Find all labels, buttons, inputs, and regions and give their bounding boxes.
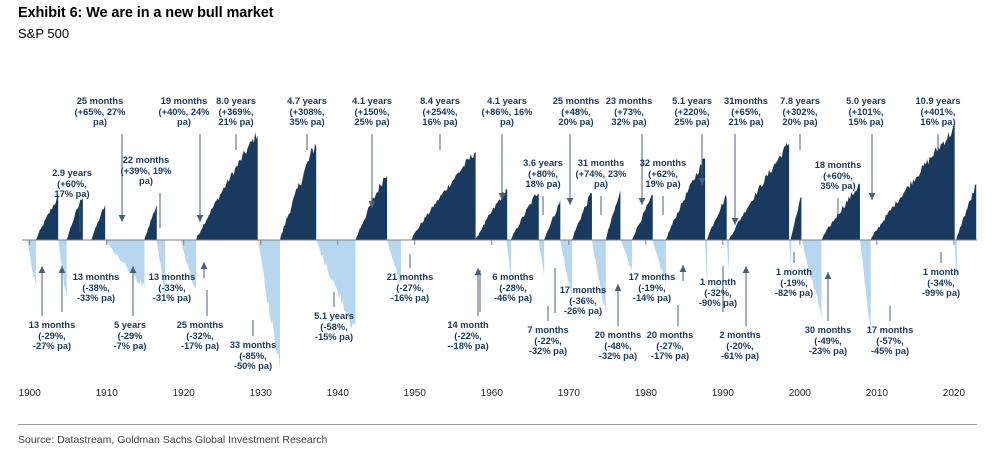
bear-annotation-duration: 5.1 years [314,311,354,322]
bull-annotation-duration: 4.1 years [482,96,533,107]
bull-annotation-returns: (+48%, 20% pa) [553,107,600,128]
bull-annotation: 3.6 years(+80%, 18% pa) [523,158,563,190]
bull-annotation-returns: (+302%, 20% pa) [780,107,820,128]
bear-annotation-duration: 1 month [699,277,737,288]
bull-annotation-returns: (+369%, 21% pa) [216,107,256,128]
bear-annotation-duration: 7 months [527,325,568,336]
bull-annotation: 25 months(+65%, 27% pa) [75,96,126,128]
bull-annotation-duration: 5.1 years [672,96,712,107]
bull-annotation: 31 months(+74%, 23% pa) [576,158,627,190]
bear-annotation: 2 months(-20%, -61% pa) [719,330,760,362]
bear-annotation-duration: 20 months [595,330,642,341]
bull-annotation: 7.8 years(+302%, 20% pa) [780,96,820,128]
bear-annotation: 5 years(-29% -7% pa) [113,320,146,352]
bear-market-area [727,240,729,273]
x-axis-tick-label: 2000 [789,388,811,399]
arrow-head-icon [680,265,687,272]
bull-annotation: 8.4 years(+254%, 16% pa) [420,96,460,128]
bull-annotation-duration: 31 months [576,158,627,169]
bull-annotation-returns: (+39%, 19% pa) [121,166,172,187]
x-axis-tick-label: 2010 [866,388,888,399]
bull-annotation: 31months(+65%, 21% pa) [724,96,768,128]
bear-annotation-duration: 33 months [230,340,277,351]
bull-annotation: 23 months(+73%, 32% pa) [606,96,653,128]
annotation-leader-line [59,266,66,312]
bull-annotation: 5.1 years(+220%, 25% pa) [672,96,712,128]
bear-annotation-returns: (-33%, -31% pa) [149,283,196,304]
bear-annotation: 25 months(-32%, -17% pa) [177,320,224,352]
arrow-head-icon [615,284,622,291]
bear-annotation-returns: (-20%, -61% pa) [719,341,760,362]
bull-annotation-returns: (+220%, 25% pa) [672,107,712,128]
bear-annotation: 21 months(-27%, -16% pa) [387,272,434,304]
bear-annotation: 20 months(-48%, -32% pa) [595,330,642,362]
bear-annotation-duration: 1 month [922,267,960,278]
bull-annotation: 5.0 years(+101%, 15% pa) [846,96,886,128]
bull-annotation-duration: 18 months [815,160,862,171]
bull-market-area [355,176,387,240]
bear-annotation-duration: 5 years [113,320,146,331]
x-axis-tick-label: 1940 [327,388,349,399]
bear-annotation-duration: 14 month [447,320,488,331]
bear-annotation-returns: (-49%, -23% pa) [805,336,852,357]
bull-annotation-duration: 19 months [159,96,210,107]
bull-annotation-returns: (+150%, 25% pa) [352,107,392,128]
bear-annotation-duration: 17 months [629,272,676,283]
bull-market-area [729,143,789,240]
bull-annotation: 10.9 years(+401%, 16% pa) [916,96,961,128]
bull-annotation-returns: (+60%, 35% pa) [815,171,862,192]
bull-annotation-duration: 10.9 years [916,96,961,107]
bear-annotation-returns: (-19%, -14% pa) [629,283,676,304]
x-axis-tick-label: 1930 [250,388,272,399]
arrow-head-icon [825,272,832,279]
bull-annotation: 4.1 years(+150%, 25% pa) [352,96,392,128]
bear-annotation: 1 month(-34%, -99% pa) [922,267,960,299]
footer-divider [18,424,977,425]
bull-market-area [280,144,316,240]
bull-annotation: 19 months(+40%, 24% pa) [159,96,210,128]
bear-annotation: 14 month(-22%, --18% pa) [447,320,488,352]
bull-annotation-returns: (+40%, 24% pa) [159,107,210,128]
bull-market-area [196,132,258,240]
bear-annotation: 13 months(-33%, -31% pa) [149,272,196,304]
annotation-leader-line [825,272,832,321]
bull-annotation-returns: (+65%, 27% pa) [75,107,126,128]
bear-annotation-duration: 13 months [29,320,76,331]
bear-annotation-duration: 25 months [177,320,224,331]
bull-market-area [572,192,592,240]
bull-annotation-duration: 25 months [553,96,600,107]
x-axis-tick-label: 1920 [173,388,195,399]
bull-market-area [511,193,539,240]
annotation-leader-line [201,262,208,278]
arrow-head-icon [201,262,208,269]
annotation-leader-line [743,266,750,326]
bear-annotation-returns: (-58%, -15% pa) [314,322,354,343]
bull-annotation-duration: 3.6 years [523,158,563,169]
bear-annotation: 1 month(-32%, -90% pa) [699,277,737,309]
bull-annotation-duration: 23 months [606,96,653,107]
bull-annotation: 8.0 years(+369%, 21% pa) [216,96,256,128]
bear-annotation-duration: 13 months [149,272,196,283]
bull-annotation: 32 months(+62%, 19% pa) [640,158,687,190]
bull-annotation: 4.1 years(+86%, 16% pa) [482,96,533,128]
annotation-leader-line [732,134,739,225]
arrow-head-icon [639,198,646,205]
bear-annotation: 5.1 years(-58%, -15% pa) [314,311,354,343]
bear-annotation-returns: (-57%, -45% pa) [867,336,914,357]
bear-annotation-returns: (-29% -7% pa) [113,331,146,352]
bear-annotation-returns: (-28%, -46% pa) [492,283,533,304]
bull-annotation: 18 months(+60%, 35% pa) [815,160,862,192]
bull-market-area [544,200,560,240]
annotation-leader-line [615,284,622,326]
bull-annotation-duration: 4.7 years [287,96,327,107]
arrow-head-icon [39,266,46,273]
bull-annotation: 25 months(+48%, 20% pa) [553,96,600,128]
bull-market-area [606,191,621,240]
bear-annotation: 13 months(-29%, -27% pa) [29,320,76,352]
bear-annotation-returns: (-22%, --18% pa) [447,331,488,352]
page-subtitle: S&P 500 [18,26,69,41]
bear-annotation-returns: (-27%, -16% pa) [387,283,434,304]
bear-annotation-returns: (-36%, -26% pa) [560,296,607,317]
bull-market-area [791,197,802,240]
bull-annotation-returns: (+86%, 16% pa) [482,107,533,128]
bull-annotation-returns: (+73%, 32% pa) [606,107,653,128]
bear-annotation: 20 months(-27%, -17% pa) [647,330,694,362]
bear-market-area [860,240,871,332]
bear-annotation: 6 months(-28%, -46% pa) [492,272,533,304]
bull-annotation-returns: (+74%, 23% pa) [576,169,627,190]
bear-annotation-returns: (-34%, -99% pa) [922,278,960,299]
bear-annotation: 1 month(-19%, -82% pa) [775,267,813,299]
bull-market-area [144,205,156,240]
arrow-head-icon [869,193,876,200]
bear-annotation: 7 months(-22%, -32% pa) [527,325,568,357]
bull-annotation-duration: 25 months [75,96,126,107]
annotation-leader-line [39,266,46,316]
x-axis-tick-label: 2020 [943,388,965,399]
bull-annotation-returns: (+62%, 19% pa) [640,169,687,190]
x-axis-tick-label: 1980 [635,388,657,399]
arrow-head-icon [197,215,204,222]
bull-market-area [956,184,976,240]
annotation-leader-line [567,134,574,205]
arrow-head-icon [119,215,126,222]
bear-annotation-duration: 2 months [719,330,760,341]
bull-annotation-duration: 8.4 years [420,96,460,107]
page-title: Exhibit 6: We are in a new bull market [18,5,273,21]
bear-annotation-duration: 30 months [805,325,852,336]
bear-annotation: 30 months(-49%, -23% pa) [805,325,852,357]
bear-annotation-duration: 17 months [867,325,914,336]
arrow-head-icon [743,266,750,273]
bull-market-area [411,152,476,240]
annotation-leader-line [869,134,876,200]
source-note: Source: Datastream, Goldman Sachs Global… [18,434,327,446]
bear-market-area [539,240,544,276]
bull-annotation-duration: 4.1 years [352,96,392,107]
x-axis-tick-label: 1970 [558,388,580,399]
bull-annotation-duration: 8.0 years [216,96,256,107]
bear-annotation-returns: (-85%, -50% pa) [230,351,277,372]
annotation-leader-line [369,134,376,208]
bear-annotation-returns: (-32%, -90% pa) [699,288,737,309]
x-axis-tick-label: 1960 [481,388,503,399]
bull-annotation-duration: 2.9 years [52,168,92,179]
bear-annotation-returns: (-29%, -27% pa) [29,331,76,352]
bear-market-area [27,240,35,284]
bear-annotation-duration: 21 months [387,272,434,283]
bull-market-area [36,194,58,240]
bear-annotation: 17 months(-57%, -45% pa) [867,325,914,357]
bear-annotation-duration: 1 month [775,267,813,278]
bear-annotation: 17 months(-19%, -14% pa) [629,272,676,304]
exhibit-page: Exhibit 6: We are in a new bull market S… [0,0,995,465]
annotation-leader-line [499,134,506,200]
bear-annotation-returns: (-32%, -17% pa) [177,331,224,352]
bull-annotation-returns: (+80%, 18% pa) [523,169,563,190]
bear-annotation-returns: (-38%, -33% pa) [73,283,120,304]
bear-annotation-returns: (-48%, -32% pa) [595,341,642,362]
x-axis-tick-label: 1990 [712,388,734,399]
bull-market-area [821,184,860,240]
annotation-leader-line [680,265,687,281]
bear-market-area [621,240,632,272]
x-axis-tick-label: 1910 [96,388,118,399]
bull-annotation-returns: (+65%, 21% pa) [724,107,768,128]
bull-annotation-duration: 7.8 years [780,96,820,107]
bear-annotation-duration: 13 months [73,272,120,283]
bull-annotation-returns: (+60%, 17% pa) [52,179,92,200]
bear-annotation-returns: (-19%, -82% pa) [775,278,813,299]
bear-annotation-returns: (-27%, -17% pa) [647,341,694,362]
annotation-leader-line [197,134,204,222]
bull-annotation-returns: (+101%, 15% pa) [846,107,886,128]
bull-annotation: 4.7 years(+308%, 35% pa) [287,96,327,128]
bear-annotation-returns: (-22%, -32% pa) [527,336,568,357]
bull-annotation-duration: 22 months [121,155,172,166]
bear-annotation: 17 months(-36%, -26% pa) [560,285,607,317]
x-axis-tick-label: 1900 [19,388,41,399]
arrow-head-icon [567,198,574,205]
bear-annotation-duration: 17 months [560,285,607,296]
bear-annotation-duration: 20 months [647,330,694,341]
bull-annotation-returns: (+308%, 35% pa) [287,107,327,128]
bull-annotation: 2.9 years(+60%, 17% pa) [52,168,92,200]
bull-annotation-duration: 32 months [640,158,687,169]
bull-market-area [871,124,955,240]
bear-annotation: 13 months(-38%, -33% pa) [73,272,120,304]
bull-market-area [91,205,105,240]
bull-market-area [707,195,727,240]
bull-annotation-duration: 31months [724,96,768,107]
bull-annotation-returns: (+401%, 16% pa) [916,107,961,128]
bear-annotation: 33 months(-85%, -50% pa) [230,340,277,372]
bear-annotation-duration: 6 months [492,272,533,283]
bull-annotation: 22 months(+39%, 19% pa) [121,155,172,187]
bull-annotation-returns: (+254%, 16% pa) [420,107,460,128]
x-axis-tick-label: 1950 [404,388,426,399]
bull-annotation-duration: 5.0 years [846,96,886,107]
